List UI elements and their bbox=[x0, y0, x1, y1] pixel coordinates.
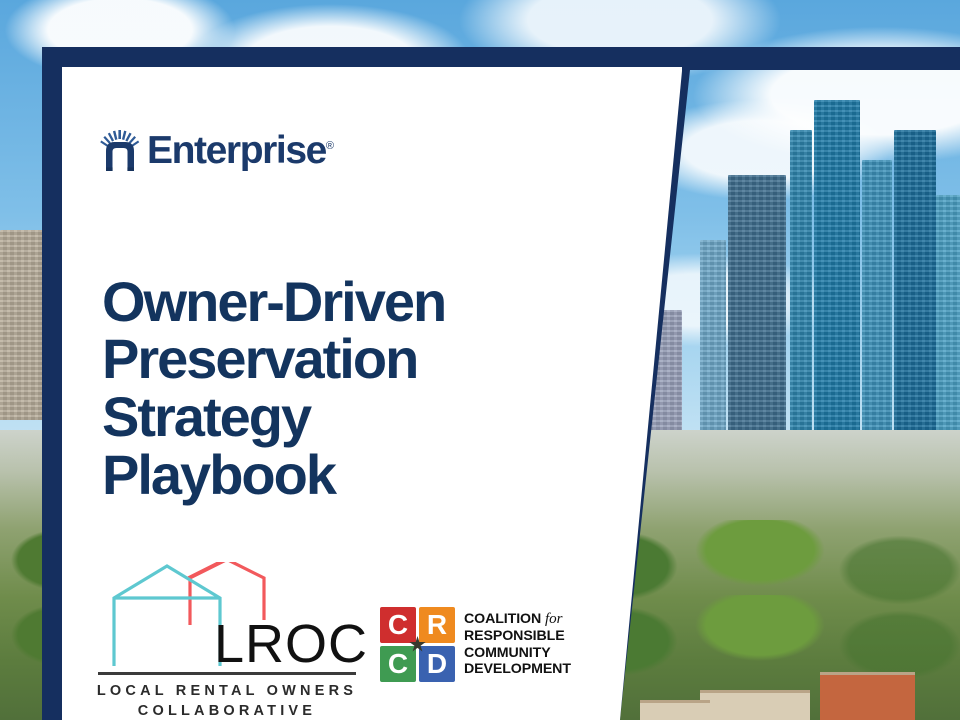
house-roof bbox=[700, 690, 810, 720]
house-roof bbox=[640, 700, 710, 720]
crcd-square-d: D bbox=[419, 646, 455, 682]
enterprise-logo: Enterprise® bbox=[100, 129, 334, 171]
crcd-square-c2: C bbox=[380, 646, 416, 682]
crcd-logo: C R C D COALITION for RESPONSIBLE COMMUN… bbox=[380, 607, 571, 682]
skyline-tower bbox=[814, 100, 860, 430]
lroc-tagline: LOCAL RENTAL OWNERS COLLABORATIVE bbox=[86, 682, 368, 720]
crcd-tagline-line-3: COMMUNITY bbox=[464, 645, 571, 661]
crcd-tagline-line-4: DEVELOPMENT bbox=[464, 661, 571, 677]
crcd-tagline-line-2: RESPONSIBLE bbox=[464, 628, 571, 644]
skyline-tower bbox=[0, 230, 44, 420]
skyline-tower bbox=[894, 130, 936, 430]
skyline-tower bbox=[790, 130, 812, 430]
enterprise-wordmark-text: Enterprise bbox=[147, 129, 326, 172]
crcd-square-r: R bbox=[419, 607, 455, 643]
skyline-tower bbox=[728, 175, 786, 430]
enterprise-arch-mark-icon bbox=[100, 129, 140, 171]
crcd-tagline: COALITION for RESPONSIBLE COMMUNITY DEVE… bbox=[464, 611, 571, 678]
registered-trademark-mark: ® bbox=[326, 140, 334, 152]
lroc-tagline-line-1: LOCAL RENTAL OWNERS bbox=[86, 682, 368, 702]
crcd-square-c1: C bbox=[380, 607, 416, 643]
skyline-tower bbox=[700, 240, 726, 430]
lroc-acronym: LROC bbox=[214, 617, 368, 671]
crcd-coalition-word: COALITION bbox=[464, 611, 541, 627]
page-title: Owner-Driven Preservation Strategy Playb… bbox=[102, 273, 602, 505]
house-roof bbox=[820, 672, 915, 720]
lroc-logo: LROC LOCAL RENTAL OWNERS COLLABORATIVE bbox=[86, 562, 376, 720]
crcd-for-word: for bbox=[545, 611, 563, 627]
enterprise-wordmark: Enterprise® bbox=[147, 131, 334, 170]
cover-card: Enterprise® Owner-Driven Preservation St… bbox=[62, 67, 682, 720]
skyline-tower bbox=[862, 160, 892, 430]
cover-page: Enterprise® Owner-Driven Preservation St… bbox=[0, 0, 960, 720]
lroc-tagline-line-2: COLLABORATIVE bbox=[86, 702, 368, 720]
crcd-letter-grid: C R C D bbox=[380, 607, 455, 682]
crcd-tagline-line-1: COALITION for bbox=[464, 611, 571, 628]
skyline-tower bbox=[936, 195, 960, 430]
